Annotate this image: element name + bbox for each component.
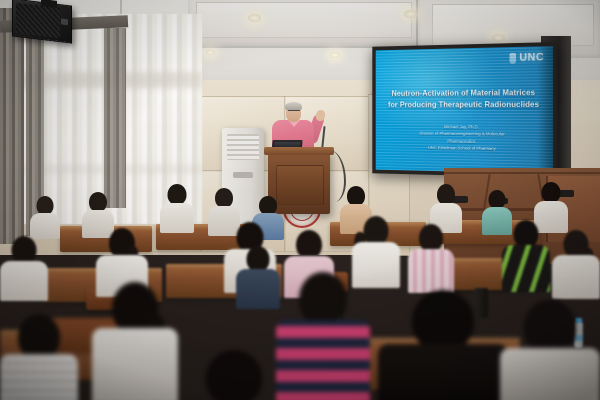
wall-speaker-icon	[12, 0, 72, 44]
list-item	[500, 300, 600, 400]
slide-title-line2: for Producing Therapeutic Radionuclides	[382, 99, 546, 111]
list-item	[160, 184, 194, 232]
list-item	[502, 220, 550, 290]
slide-affiliation-line3: UNC Eshelman School of Pharmacy	[384, 144, 543, 154]
downlight-icon	[206, 50, 215, 55]
slide-presenter-block: Michael Jay, Ph.D. Division of Pharmacoe…	[376, 123, 553, 154]
list-item	[186, 350, 282, 400]
downlight-icon	[492, 34, 505, 42]
window-drape-left	[0, 8, 24, 244]
window-drape-right	[104, 28, 126, 208]
slide-title: Neutron-Activation of Material Matrices …	[376, 87, 553, 111]
list-item	[378, 290, 508, 400]
list-item	[236, 246, 280, 306]
downlight-icon	[330, 52, 340, 58]
list-item	[552, 230, 600, 296]
glasses-icon	[288, 110, 300, 114]
list-item	[0, 314, 78, 400]
list-item	[276, 272, 370, 400]
list-item	[92, 282, 178, 400]
lecture-hall-photo: UNC Neutron-Activation of Material Matri…	[0, 0, 600, 400]
shield-icon	[510, 53, 517, 64]
list-item	[0, 236, 48, 298]
downlight-icon	[404, 10, 417, 18]
slide-title-line1: Neutron-Activation of Material Matrices	[382, 87, 546, 100]
list-item	[30, 196, 60, 236]
downlight-icon	[248, 14, 261, 22]
projection-screen: UNC Neutron-Activation of Material Matri…	[372, 42, 557, 178]
list-item	[408, 224, 454, 290]
